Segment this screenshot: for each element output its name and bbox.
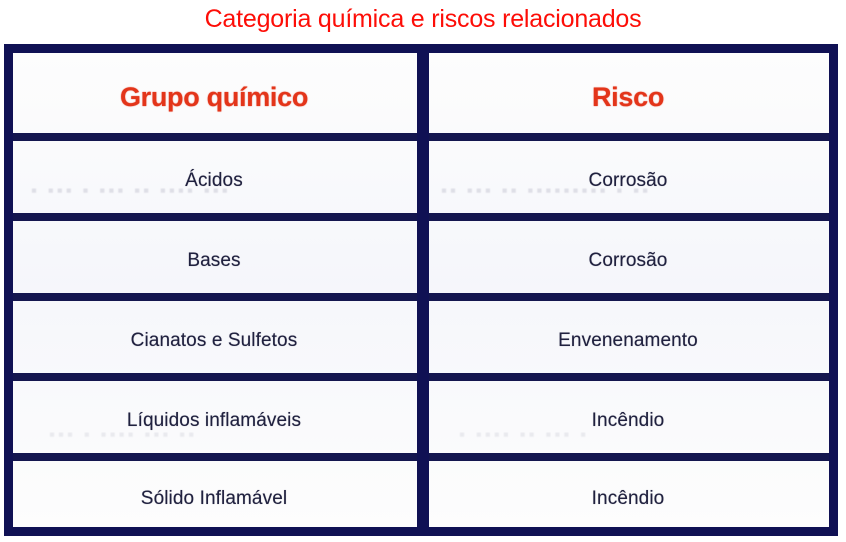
cell-grupo-quimico: Líquidos inflamáveis: [13, 381, 415, 461]
column-header-risco: Risco: [427, 53, 829, 141]
table-row: Sólido Inflamável Incêndio: [13, 461, 829, 537]
row-separator: [13, 133, 829, 141]
row-separator: [13, 213, 829, 221]
page-root: { "title": "Categoria química e riscos r…: [0, 0, 846, 542]
cell-grupo-quimico: Ácidos: [13, 141, 415, 221]
cell-risco: Envenenamento: [427, 301, 829, 381]
table-row: Ácidos Corrosão: [13, 141, 829, 221]
cell-risco: Corrosão: [427, 221, 829, 301]
cell-grupo-quimico: Cianatos e Sulfetos: [13, 301, 415, 381]
table-row: Bases Corrosão: [13, 221, 829, 301]
cell-risco: Incêndio: [427, 461, 829, 537]
page-title: Categoria química e riscos relacionados: [0, 2, 846, 40]
cell-risco: Corrosão: [427, 141, 829, 221]
row-separator: [13, 453, 829, 461]
table-row: Líquidos inflamáveis Incêndio: [13, 381, 829, 461]
cell-risco: Incêndio: [427, 381, 829, 461]
table-grid: Grupo químico Risco Ácidos Corrosão Base…: [13, 53, 829, 527]
column-header-grupo-quimico: Grupo químico: [13, 53, 415, 141]
row-separator: [13, 293, 829, 301]
row-separator: [13, 373, 829, 381]
cell-grupo-quimico: Sólido Inflamável: [13, 461, 415, 537]
table-row: Cianatos e Sulfetos Envenenamento: [13, 301, 829, 381]
table-header-row: Grupo químico Risco: [13, 53, 829, 141]
cell-grupo-quimico: Bases: [13, 221, 415, 301]
chemical-risk-table: ▪ ▪▪▪ ▪ ▪▪▪ ▪▪ ▪▪▪▪ ▪▪▪ ▪▪ ▪▪▪ ▪▪ ▪▪▪▪▪▪…: [4, 44, 838, 536]
